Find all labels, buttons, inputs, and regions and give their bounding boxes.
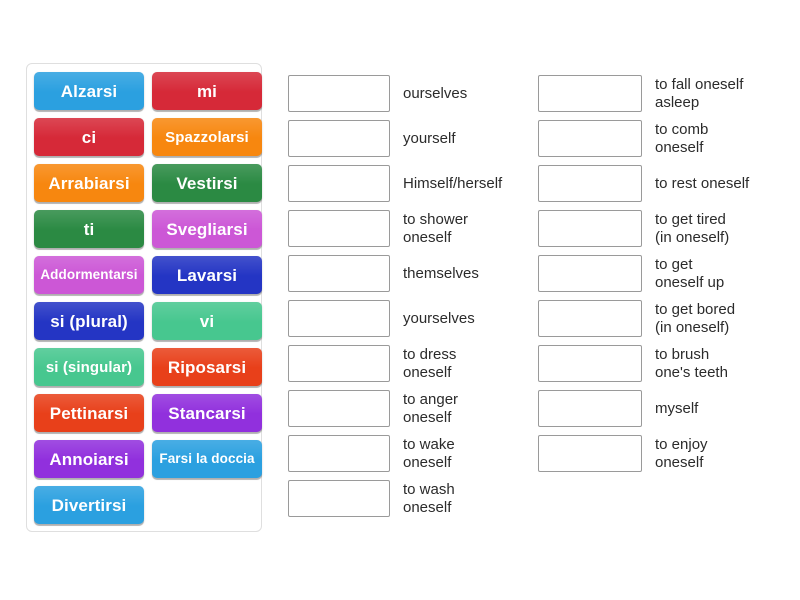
tile-lavarsi[interactable]: Lavarsi <box>152 256 262 294</box>
drop-box[interactable] <box>538 165 642 202</box>
drop-box[interactable] <box>288 390 390 427</box>
answer-label: yourselves <box>403 310 475 328</box>
answer-label: yourself <box>403 130 456 148</box>
answer-row: to get tired (in oneself) <box>538 210 788 247</box>
answer-label: myself <box>655 400 698 418</box>
answer-label: to dress oneself <box>403 346 456 381</box>
drop-box[interactable] <box>288 480 390 517</box>
answer-row: to fall oneself asleep <box>538 75 788 112</box>
drop-box[interactable] <box>288 75 390 112</box>
drop-box[interactable] <box>288 300 390 337</box>
answer-row: to wash oneself <box>288 480 533 517</box>
tile-si-plural[interactable]: si (plural) <box>34 302 144 340</box>
tile-si-singular[interactable]: si (singular) <box>34 348 144 386</box>
drop-box[interactable] <box>538 210 642 247</box>
tile-mi[interactable]: mi <box>152 72 262 110</box>
tile-divertirsi[interactable]: Divertirsi <box>34 486 144 524</box>
answer-row: to comb oneself <box>538 120 788 157</box>
drop-box[interactable] <box>538 255 642 292</box>
answer-label: to comb oneself <box>655 121 708 156</box>
answer-label: to fall oneself asleep <box>655 76 743 111</box>
tile-grid: AlzarsimiciSpazzolarsiArrabiarsiVestirsi… <box>34 72 254 524</box>
answer-row: themselves <box>288 255 533 292</box>
drop-box[interactable] <box>538 345 642 382</box>
tile-arrabiarsi[interactable]: Arrabiarsi <box>34 164 144 202</box>
answer-row: to wake oneself <box>288 435 533 472</box>
tile-spazzolarsi[interactable]: Spazzolarsi <box>152 118 262 156</box>
tile-pettinarsi[interactable]: Pettinarsi <box>34 394 144 432</box>
answer-row: ourselves <box>288 75 533 112</box>
answer-label: to rest oneself <box>655 175 749 193</box>
tile-annoiarsi[interactable]: Annoiarsi <box>34 440 144 478</box>
drop-box[interactable] <box>288 345 390 382</box>
answer-label: to shower oneself <box>403 211 468 246</box>
answer-row: to brush one's teeth <box>538 345 788 382</box>
answer-label: ourselves <box>403 85 467 103</box>
tile-farsi-la-doccia[interactable]: Farsi la doccia <box>152 440 262 478</box>
answer-label: to wash oneself <box>403 481 455 516</box>
tile-addormentarsi[interactable]: Addormentarsi <box>34 256 144 294</box>
answer-row: to enjoy oneself <box>538 435 788 472</box>
tile-ci[interactable]: ci <box>34 118 144 156</box>
answer-row: to rest oneself <box>538 165 788 202</box>
drop-box[interactable] <box>288 210 390 247</box>
answers-column-right: to fall oneself asleepto comb oneselfto … <box>538 75 788 480</box>
answer-row: yourselves <box>288 300 533 337</box>
tile-svegliarsi[interactable]: Svegliarsi <box>152 210 262 248</box>
answer-row: Himself/herself <box>288 165 533 202</box>
drop-box[interactable] <box>538 300 642 337</box>
tile-stancarsi[interactable]: Stancarsi <box>152 394 262 432</box>
tile-alzarsi[interactable]: Alzarsi <box>34 72 144 110</box>
answer-row: to dress oneself <box>288 345 533 382</box>
answer-label: Himself/herself <box>403 175 502 193</box>
answer-label: to enjoy oneself <box>655 436 708 471</box>
drop-box[interactable] <box>538 75 642 112</box>
drop-box[interactable] <box>538 120 642 157</box>
answer-row: to anger oneself <box>288 390 533 427</box>
answers-column-middle: ourselvesyourselfHimself/herselfto showe… <box>288 75 533 525</box>
answer-label: to get bored (in oneself) <box>655 301 735 336</box>
drop-box[interactable] <box>288 120 390 157</box>
tile-vestirsi[interactable]: Vestirsi <box>152 164 262 202</box>
drop-box[interactable] <box>538 435 642 472</box>
answer-label: to anger oneself <box>403 391 458 426</box>
drop-box[interactable] <box>288 165 390 202</box>
tile-vi[interactable]: vi <box>152 302 262 340</box>
answer-row: to get bored (in oneself) <box>538 300 788 337</box>
answer-label: themselves <box>403 265 479 283</box>
drop-box[interactable] <box>538 390 642 427</box>
tile-riposarsi[interactable]: Riposarsi <box>152 348 262 386</box>
answer-label: to get oneself up <box>655 256 724 291</box>
answer-row: to get oneself up <box>538 255 788 292</box>
answer-row: to shower oneself <box>288 210 533 247</box>
drop-box[interactable] <box>288 435 390 472</box>
answer-label: to wake oneself <box>403 436 455 471</box>
tile-ti[interactable]: ti <box>34 210 144 248</box>
answer-row: myself <box>538 390 788 427</box>
drop-box[interactable] <box>288 255 390 292</box>
match-up-activity: AlzarsimiciSpazzolarsiArrabiarsiVestirsi… <box>0 0 800 600</box>
answer-label: to get tired (in oneself) <box>655 211 729 246</box>
tile-panel: AlzarsimiciSpazzolarsiArrabiarsiVestirsi… <box>26 63 262 532</box>
answer-label: to brush one's teeth <box>655 346 728 381</box>
answer-row: yourself <box>288 120 533 157</box>
